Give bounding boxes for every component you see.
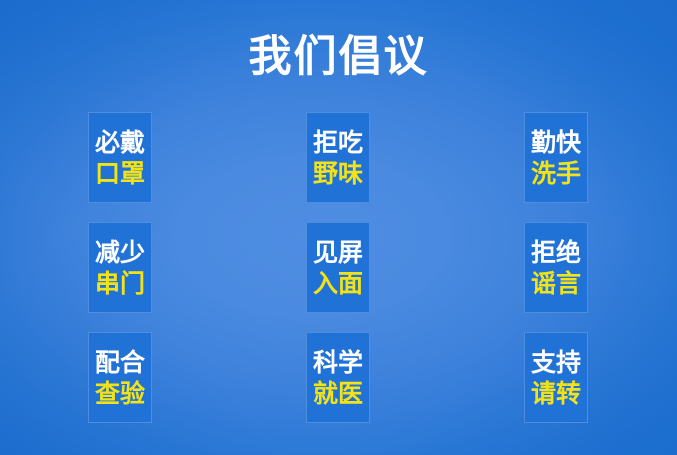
slogan-card-1-bottom: 口罩 <box>95 161 145 186</box>
slogan-card-1-top: 必戴 <box>95 130 145 155</box>
slogan-card-7-bottom: 查验 <box>95 381 145 406</box>
slogan-grid: 必戴 口罩 拒吃 野味 勤快 洗手 减少 串门 见屏 入面 拒绝 谣言 配合 查… <box>88 112 589 404</box>
poster-canvas: 我们倡议 必戴 口罩 拒吃 野味 勤快 洗手 减少 串门 见屏 入面 拒绝 谣言… <box>0 0 677 455</box>
slogan-card-4[interactable]: 减少 串门 <box>88 222 152 313</box>
page-title: 我们倡议 <box>0 36 677 79</box>
slogan-card-5[interactable]: 见屏 入面 <box>306 222 370 313</box>
slogan-card-7[interactable]: 配合 查验 <box>88 332 152 423</box>
slogan-card-3-bottom: 洗手 <box>531 161 581 186</box>
slogan-card-3-top: 勤快 <box>531 130 581 155</box>
slogan-card-2-top: 拒吃 <box>313 130 363 155</box>
slogan-card-9[interactable]: 支持 请转 <box>524 332 588 423</box>
slogan-card-5-top: 见屏 <box>313 240 363 265</box>
slogan-card-6[interactable]: 拒绝 谣言 <box>524 222 588 313</box>
slogan-card-2-bottom: 野味 <box>313 161 363 186</box>
slogan-card-9-top: 支持 <box>531 350 581 375</box>
slogan-card-6-bottom: 谣言 <box>531 271 581 296</box>
slogan-card-4-top: 减少 <box>95 240 145 265</box>
slogan-card-6-top: 拒绝 <box>531 240 581 265</box>
slogan-card-8-top: 科学 <box>313 350 363 375</box>
slogan-card-3[interactable]: 勤快 洗手 <box>524 112 588 203</box>
slogan-card-8-bottom: 就医 <box>313 381 363 406</box>
slogan-card-2[interactable]: 拒吃 野味 <box>306 112 370 203</box>
slogan-card-8[interactable]: 科学 就医 <box>306 332 370 423</box>
slogan-card-5-bottom: 入面 <box>313 271 363 296</box>
slogan-card-1[interactable]: 必戴 口罩 <box>88 112 152 203</box>
slogan-card-4-bottom: 串门 <box>95 271 145 296</box>
slogan-card-7-top: 配合 <box>95 350 145 375</box>
slogan-card-9-bottom: 请转 <box>531 381 581 406</box>
